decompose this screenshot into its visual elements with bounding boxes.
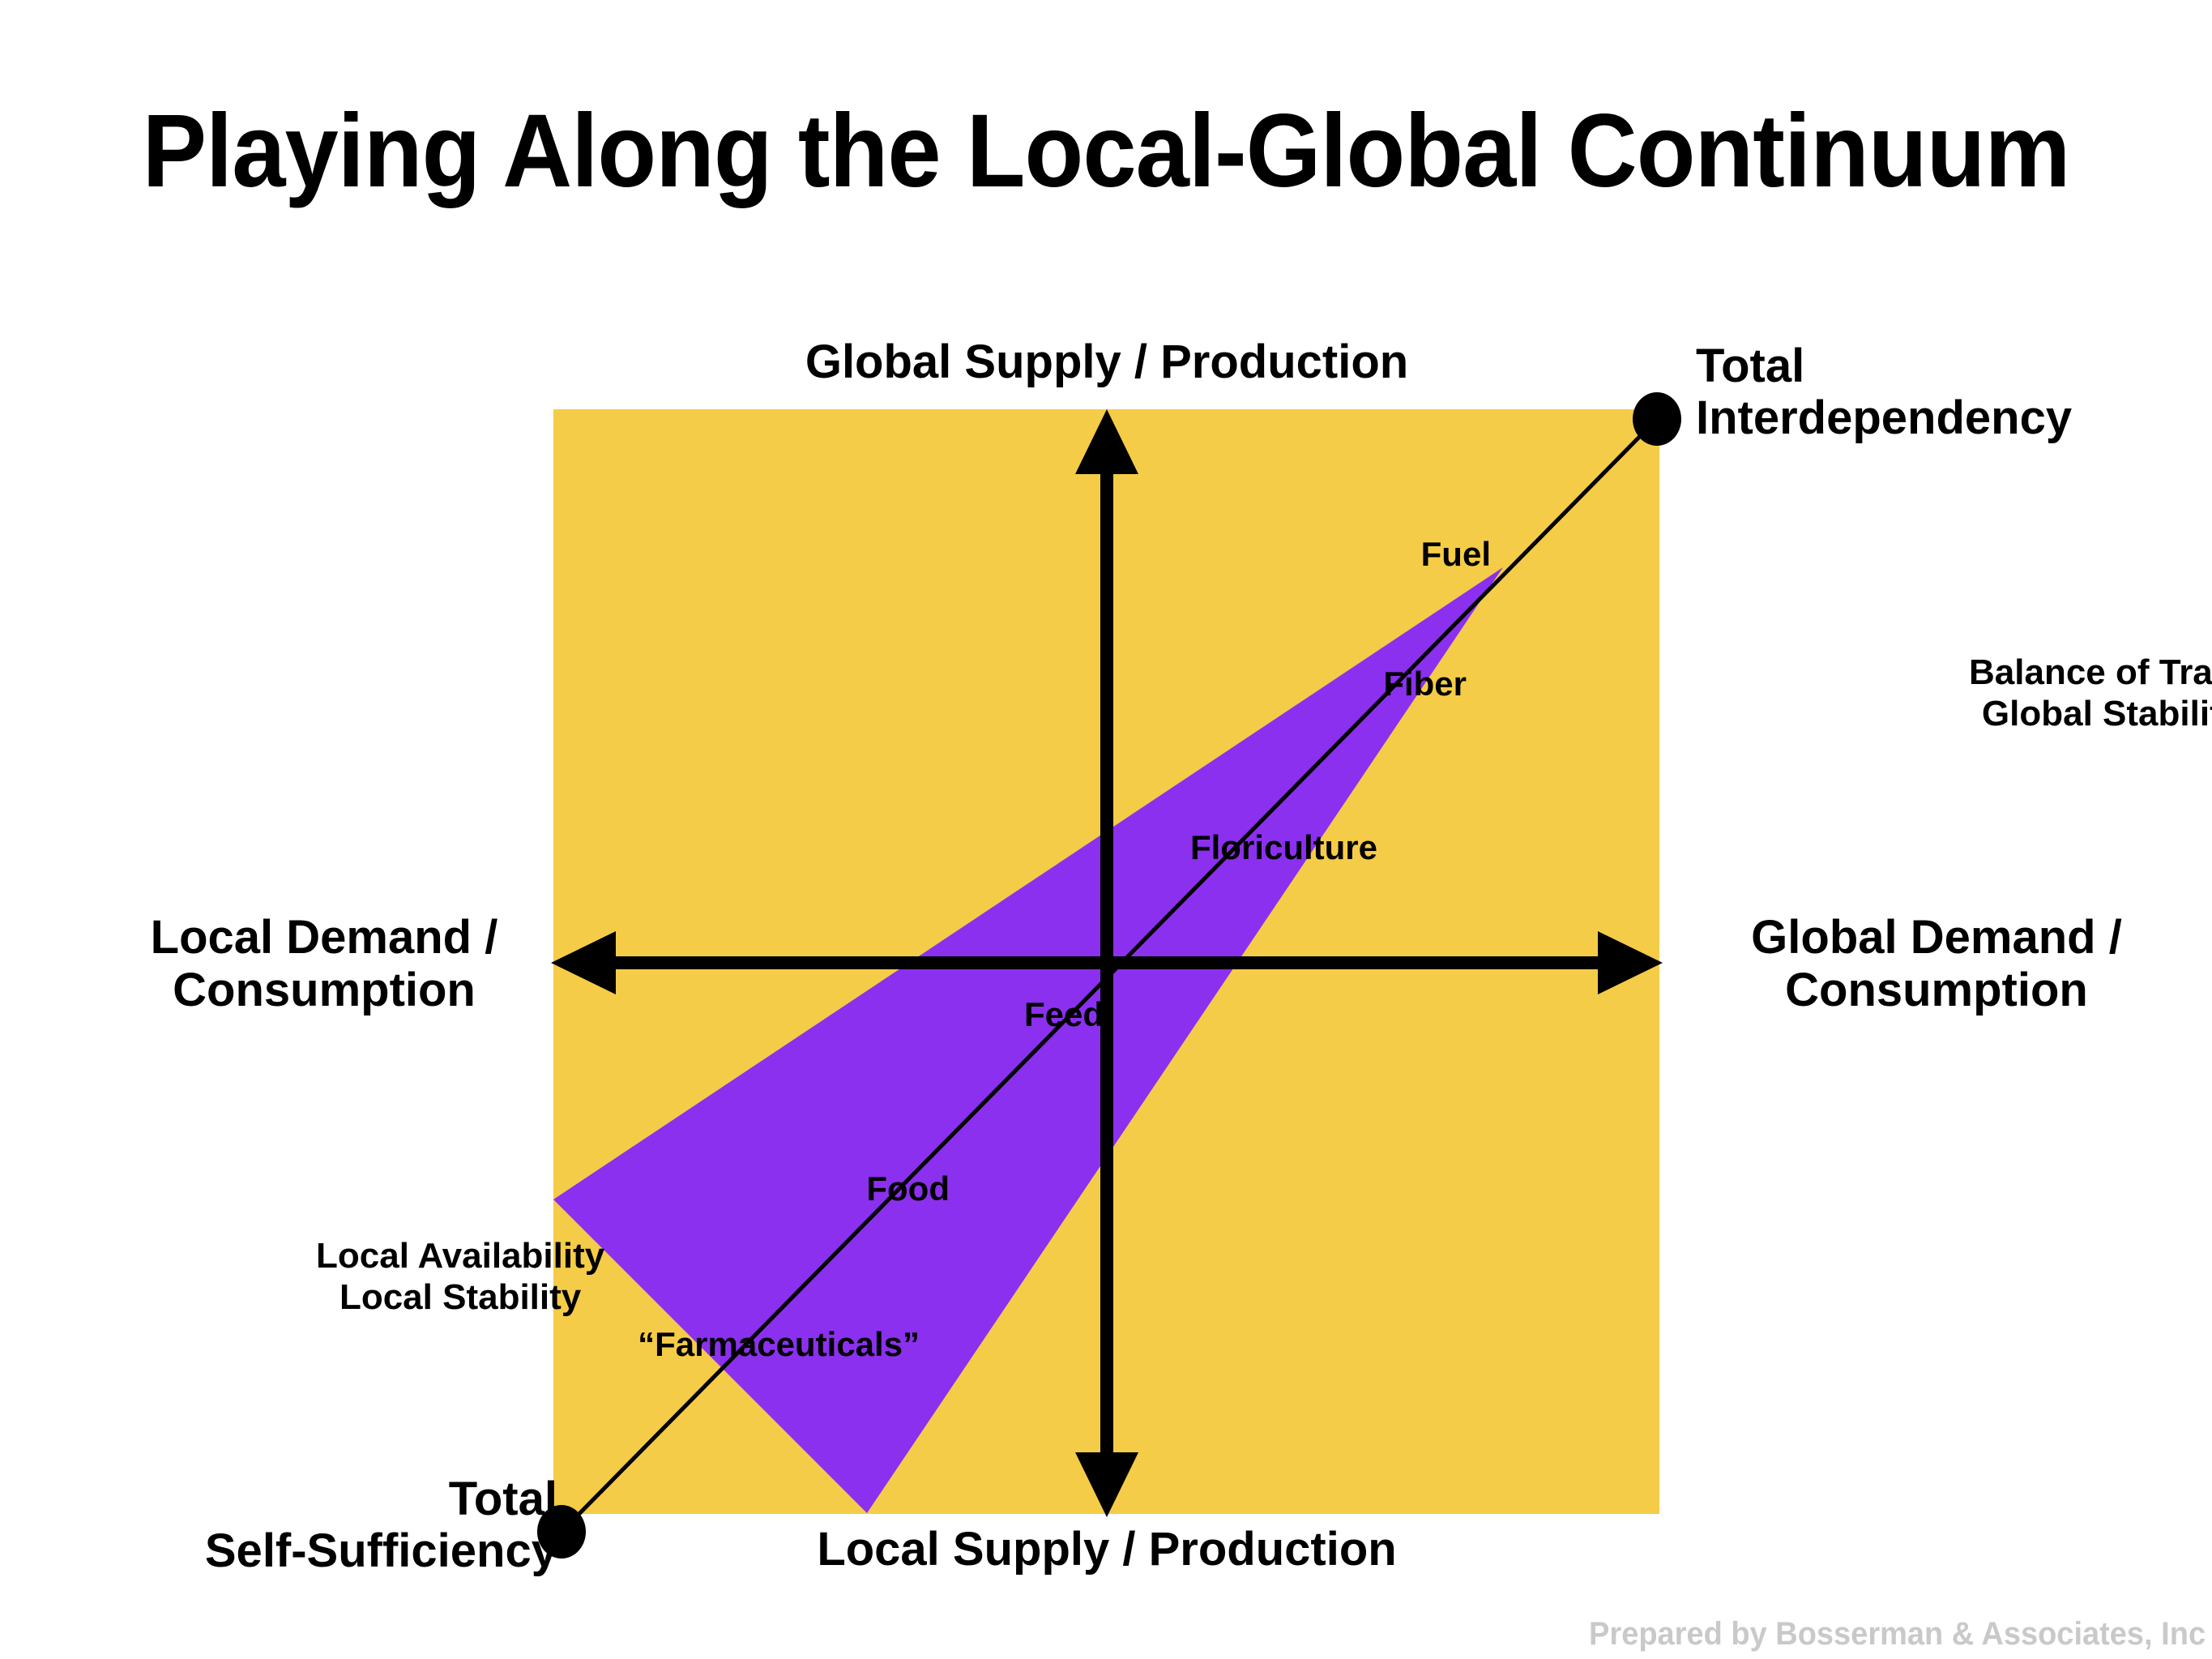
endpoint-label-total-interdependency-line1: Total [1696, 340, 2072, 392]
chart-graphics [0, 0, 2212, 1659]
category-label-food: Food [866, 1169, 950, 1208]
footer-credit: Prepared by Bosserman & Associates, Inc [1589, 1616, 2206, 1653]
continuum-wedge [553, 567, 1503, 1513]
category-label-farmaceuticals: “Farmaceuticals” [638, 1325, 920, 1363]
axis-label-global-demand: Global Demand / Consumption [1751, 912, 2122, 1017]
axis-label-local-demand-line2: Consumption [151, 964, 498, 1017]
category-label-feed: Feed [1024, 995, 1104, 1033]
category-label-fuel: Fuel [1421, 535, 1491, 573]
axis-label-global-demand-line2: Consumption [1751, 964, 2122, 1017]
category-label-floriculture: Floriculture [1190, 828, 1377, 866]
category-label-fiber: Fiber [1383, 665, 1467, 703]
endpoint-label-total-self-sufficiency-line2: Self-Sufficiency [205, 1525, 557, 1577]
endpoint-label-total-interdependency-line2: Interdependency [1696, 392, 2072, 444]
note-balance-of-trade-line2: Global Stability [1969, 694, 2212, 735]
note-local-availability-line2: Local Stability [316, 1277, 604, 1319]
axis-label-global-supply: Global Supply / Production [805, 336, 1408, 389]
endpoint-label-total-interdependency: Total Interdependency [1696, 340, 2072, 444]
note-local-availability: Local Availability Local Stability [316, 1236, 604, 1318]
note-balance-of-trade: Balance of Trade Global Stability [1969, 652, 2212, 734]
note-local-availability-line1: Local Availability [316, 1236, 604, 1277]
axis-label-local-demand-line1: Local Demand / [151, 912, 498, 964]
axis-label-local-supply: Local Supply / Production [817, 1524, 1396, 1576]
endpoint-label-total-self-sufficiency-line1: Total [205, 1473, 557, 1525]
endpoint-label-total-self-sufficiency: Total Self-Sufficiency [205, 1473, 557, 1577]
endpoint-marker-total-interdependency [1633, 392, 1681, 446]
axis-label-local-demand: Local Demand / Consumption [151, 912, 498, 1017]
note-balance-of-trade-line1: Balance of Trade [1969, 652, 2212, 694]
axis-label-global-demand-line1: Global Demand / [1751, 912, 2122, 964]
